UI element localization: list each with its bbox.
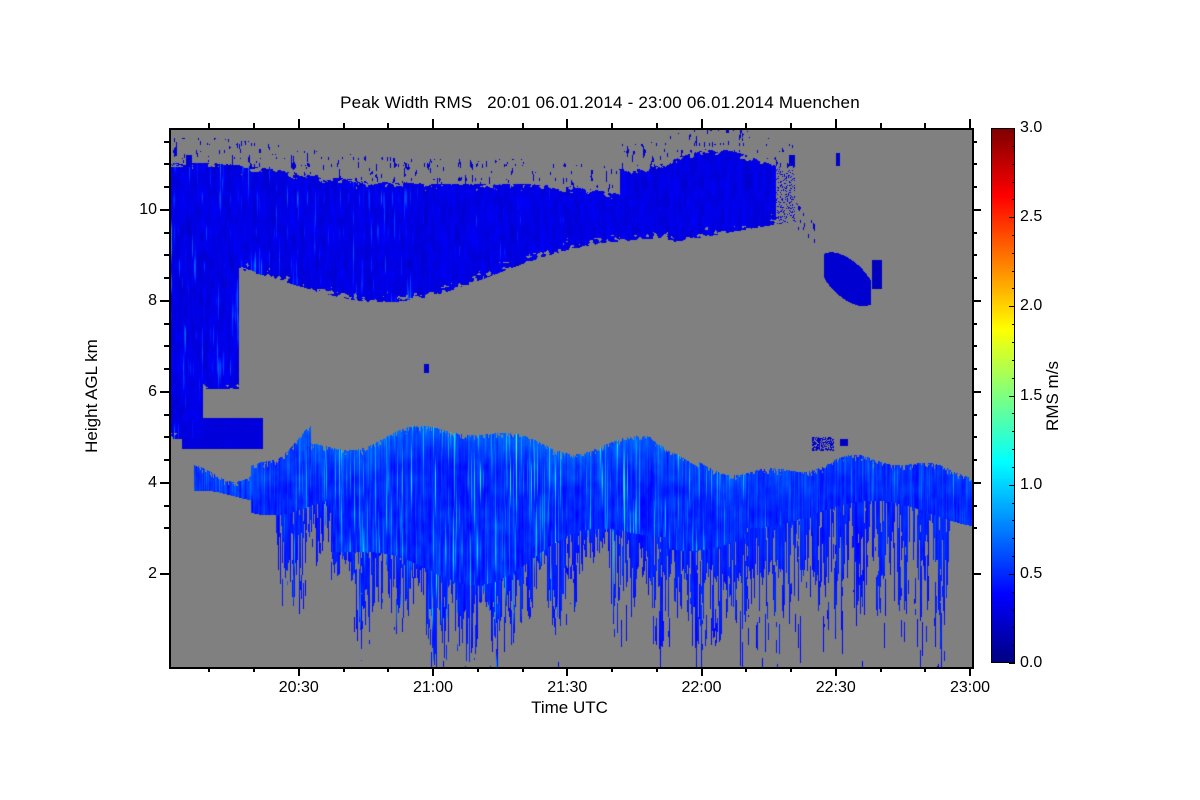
y-tick-minor [164,163,169,165]
y-tick-minor [164,527,169,529]
x-tick-major-5 [969,667,971,676]
x-tick-major-2 [566,667,568,676]
y-tick-minor-right [972,254,977,256]
x-tick-major-0 [298,667,300,676]
colorbar-tick-minor [1012,520,1015,521]
y-tick-minor-right [972,505,977,507]
colorbar-tick-5 [1009,217,1015,218]
y-tick-minor-right [972,232,977,234]
colorbar-tick-minor [1012,182,1015,183]
x-tick-major-4 [835,667,837,676]
colorbar-tick-minor [1012,324,1015,325]
y-tick-major-1 [160,482,169,484]
colorbar-tick-minor [1012,627,1015,628]
page-title: Peak Width RMS 20:01 06.01.2014 - 23:00 … [0,93,1200,113]
x-tick-major-top-0 [298,119,300,128]
y-tick-minor [164,323,169,325]
colorbar-tick-minor [1012,592,1015,593]
colorbar-label: RMS m/s [1043,361,1063,431]
y-tick-major-right-3 [972,300,981,302]
y-tick-major-3 [160,300,169,302]
y-tick-minor-right [972,414,977,416]
x-tick-minor-top [611,123,613,128]
heatmap-data-canvas [171,130,972,667]
x-tick-minor [924,667,926,672]
y-tick-minor [164,232,169,234]
x-tick-label-1: 21:00 [413,679,453,697]
x-tick-minor-top [656,123,658,128]
x-tick-minor [611,667,613,672]
colorbar-tick-label-1: 0.5 [1020,565,1042,583]
y-tick-minor-right [972,527,977,529]
y-tick-major-2 [160,391,169,393]
x-tick-minor [387,667,389,672]
y-tick-minor-right [972,368,977,370]
y-tick-minor-right [972,277,977,279]
colorbar-tick-6 [1009,128,1015,129]
x-axis-label: Time UTC [169,698,970,718]
y-tick-major-0 [160,573,169,575]
x-tick-minor-top [343,123,345,128]
colorbar-tick-label-4: 2.0 [1020,297,1042,315]
colorbar-tick-4 [1009,306,1015,307]
x-tick-major-top-2 [566,119,568,128]
y-tick-minor [164,345,169,347]
colorbar-tick-minor [1012,538,1015,539]
y-tick-minor [164,505,169,507]
x-tick-label-0: 20:30 [279,679,319,697]
figure-canvas: Peak Width RMS 20:01 06.01.2014 - 23:00 … [0,0,1200,800]
y-tick-minor [164,414,169,416]
colorbar-tick-minor [1012,431,1015,432]
x-tick-label-3: 22:00 [681,679,721,697]
y-tick-minor [164,254,169,256]
x-tick-minor [790,667,792,672]
x-tick-minor [477,667,479,672]
colorbar-tick-label-0: 0.0 [1020,654,1042,672]
x-tick-minor-top [745,123,747,128]
x-tick-minor [522,667,524,672]
y-axis-label: Height AGL km [82,339,102,453]
colorbar-tick-label-3: 1.5 [1020,387,1042,405]
x-tick-major-3 [701,667,703,676]
x-tick-label-5: 23:00 [950,679,990,697]
y-tick-minor [164,368,169,370]
colorbar-tick-3 [1009,396,1015,397]
colorbar-tick-label-5: 2.5 [1020,208,1042,226]
x-tick-minor-top [477,123,479,128]
x-tick-major-top-5 [969,119,971,128]
colorbar-tick-minor [1012,271,1015,272]
colorbar-tick-minor [1012,199,1015,200]
x-tick-major-top-1 [432,119,434,128]
colorbar-tick-minor [1012,146,1015,147]
y-tick-major-right-2 [972,391,981,393]
colorbar-tick-minor [1012,467,1015,468]
x-tick-minor-top [790,123,792,128]
colorbar-tick-label-2: 1.0 [1020,476,1042,494]
x-tick-label-4: 22:30 [816,679,856,697]
x-tick-label-2: 21:30 [547,679,587,697]
colorbar-tick-minor [1012,556,1015,557]
colorbar-tick-minor [1012,610,1015,611]
y-tick-minor-right [972,163,977,165]
y-tick-minor [164,186,169,188]
y-tick-minor-right [972,323,977,325]
x-tick-minor [208,667,210,672]
colorbar-tick-minor [1012,288,1015,289]
y-tick-label-0: 2 [125,565,157,583]
colorbar-tick-minor [1012,360,1015,361]
heatmap-plot-area[interactable] [169,128,974,669]
y-tick-label-1: 4 [125,474,157,492]
y-tick-minor-right [972,436,977,438]
colorbar-tick-minor [1012,253,1015,254]
colorbar-tick-minor [1012,164,1015,165]
colorbar-tick-minor [1012,378,1015,379]
colorbar-tick-minor [1012,413,1015,414]
y-tick-label-2: 6 [125,383,157,401]
x-tick-minor [745,667,747,672]
y-tick-minor [164,459,169,461]
x-tick-minor-top [387,123,389,128]
y-tick-minor-right [972,141,977,143]
y-tick-minor-right [972,186,977,188]
x-tick-minor [343,667,345,672]
x-tick-major-top-3 [701,119,703,128]
y-tick-major-4 [160,209,169,211]
colorbar-tick-minor [1012,235,1015,236]
colorbar-tick-minor [1012,449,1015,450]
y-tick-label-3: 8 [125,292,157,310]
x-tick-major-top-4 [835,119,837,128]
colorbar-tick-minor [1012,503,1015,504]
x-tick-minor [253,667,255,672]
x-tick-minor-top [253,123,255,128]
y-tick-minor-right [972,459,977,461]
colorbar-tick-0 [1009,663,1015,664]
colorbar-tick-label-6: 3.0 [1020,119,1042,137]
x-tick-minor-top [880,123,882,128]
colorbar-tick-1 [1009,574,1015,575]
x-tick-minor-top [208,123,210,128]
y-tick-label-4: 10 [125,201,157,219]
y-tick-major-right-0 [972,573,981,575]
x-tick-minor-top [522,123,524,128]
y-tick-major-right-4 [972,209,981,211]
y-tick-minor [164,436,169,438]
y-tick-minor [164,277,169,279]
colorbar-tick-minor [1012,645,1015,646]
x-tick-minor-top [924,123,926,128]
x-tick-major-1 [432,667,434,676]
x-tick-minor [880,667,882,672]
y-tick-minor [164,141,169,143]
colorbar-tick-2 [1009,485,1015,486]
y-tick-minor-right [972,345,977,347]
x-tick-minor [656,667,658,672]
y-tick-major-right-1 [972,482,981,484]
colorbar-tick-minor [1012,342,1015,343]
